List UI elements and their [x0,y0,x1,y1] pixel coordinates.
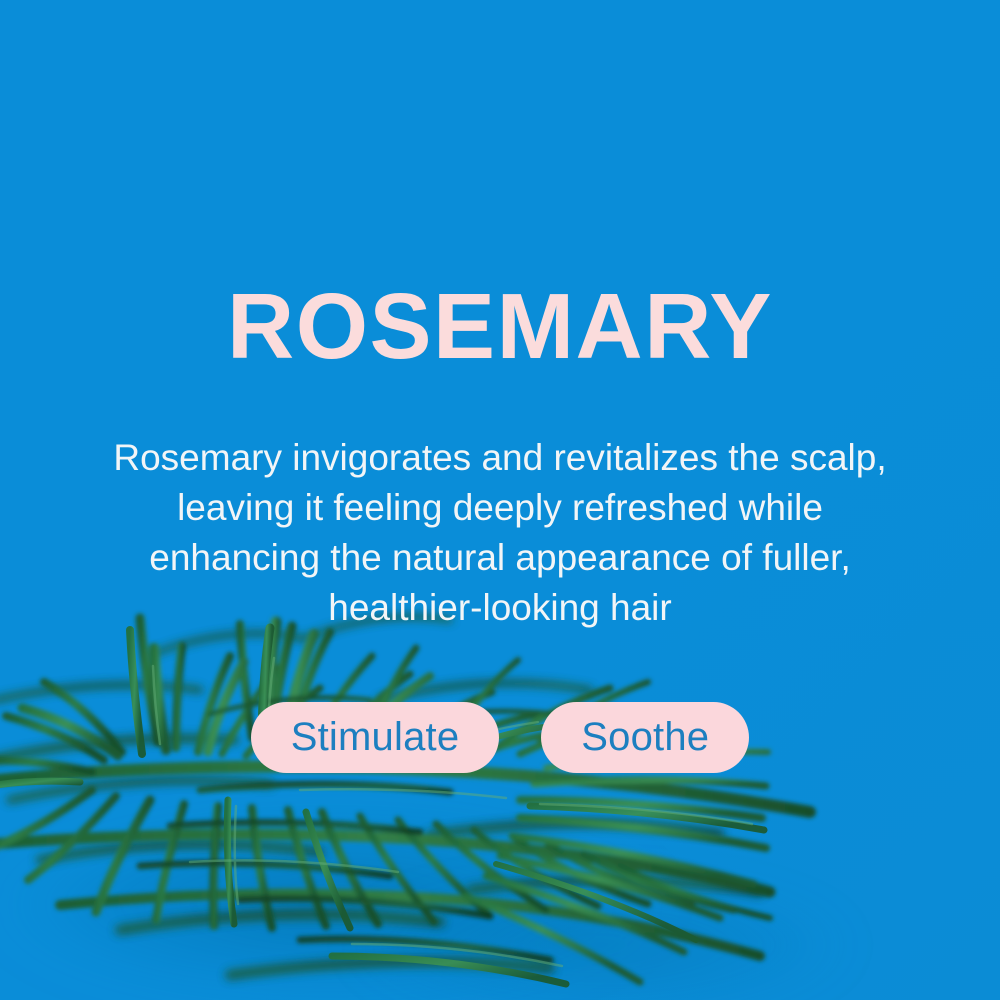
benefit-tag-soothe-label: Soothe [581,715,709,760]
benefit-tag-stimulate-label: Stimulate [291,715,460,760]
description-line-2: leaving it feeling deeply refreshed whil… [50,483,950,533]
description-line-1: Rosemary invigorates and revitalizes the… [50,433,950,483]
description-line-3: enhancing the natural appearance of full… [50,533,950,583]
page-title: ROSEMARY [0,280,1000,373]
rosemary-ingredient-card: ROSEMARY Rosemary invigorates and revita… [0,0,1000,1000]
benefit-tag-group: Stimulate Soothe [0,702,1000,773]
benefit-tag-soothe[interactable]: Soothe [541,702,749,773]
description-line-4: healthier-looking hair [50,583,950,633]
ingredient-description: Rosemary invigorates and revitalizes the… [50,433,950,633]
benefit-tag-stimulate[interactable]: Stimulate [251,702,500,773]
